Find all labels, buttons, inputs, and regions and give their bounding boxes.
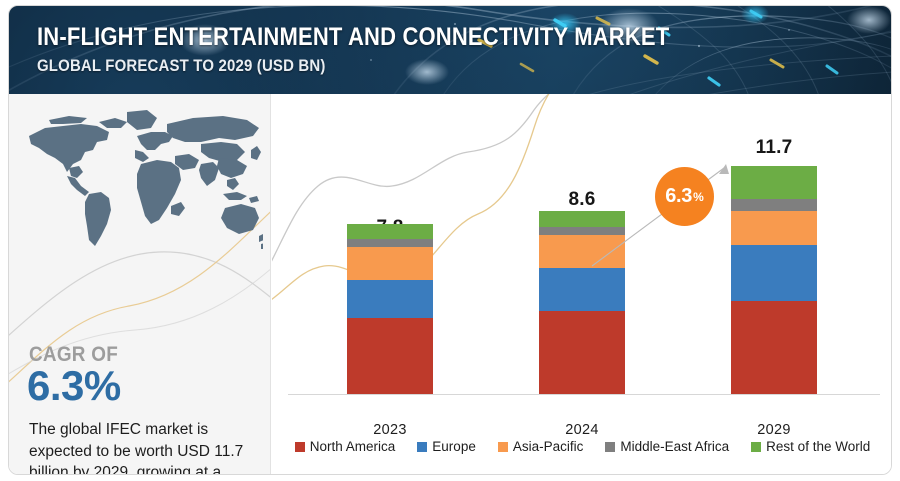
world-map-svg [23, 106, 263, 256]
summary-panel: CAGR OF 6.3% The global IFEC market is e… [9, 94, 271, 475]
body-area: CAGR OF 6.3% The global IFEC market is e… [9, 94, 892, 475]
legend-label-middle-east-africa: Middle-East Africa [620, 439, 729, 454]
page-title: IN-FLIGHT ENTERTAINMENT AND CONNECTIVITY… [37, 22, 669, 52]
legend-item-asia-pacific[interactable]: Asia-Pacific [498, 439, 584, 454]
chart-legend: North America Europe Asia-Pacific Middle… [272, 439, 892, 454]
legend-item-north-america[interactable]: North America [295, 439, 396, 454]
header-text-block: IN-FLIGHT ENTERTAINMENT AND CONNECTIVITY… [37, 22, 756, 76]
cagr-callout-arrow [272, 94, 892, 475]
bar-chart: 7.8 2023 8.6 [272, 94, 892, 475]
market-description: The global IFEC market is expected to be… [29, 419, 261, 475]
legend-label-north-america: North America [310, 439, 396, 454]
legend-item-europe[interactable]: Europe [417, 439, 476, 454]
cagr-badge-unit: % [693, 190, 704, 204]
cagr-value: 6.3% [27, 362, 121, 410]
legend-label-rest-of-world: Rest of the World [766, 439, 870, 454]
legend-swatch-icon-europe [417, 442, 427, 452]
cagr-badge[interactable]: 6.3 % [655, 167, 714, 226]
cagr-badge-value: 6.3 [665, 185, 692, 208]
legend-label-asia-pacific: Asia-Pacific [513, 439, 584, 454]
legend-label-europe: Europe [432, 439, 476, 454]
header-banner: IN-FLIGHT ENTERTAINMENT AND CONNECTIVITY… [9, 6, 892, 94]
legend-item-middle-east-africa[interactable]: Middle-East Africa [605, 439, 729, 454]
legend-item-rest-of-world[interactable]: Rest of the World [751, 439, 870, 454]
page-subtitle: GLOBAL FORECAST TO 2029 (USD BN) [37, 55, 669, 76]
chart-panel: 7.8 2023 8.6 [272, 94, 892, 475]
world-map-icon [23, 106, 263, 256]
legend-swatch-icon-asia-pacific [498, 442, 508, 452]
legend-swatch-icon-north-america [295, 442, 305, 452]
infographic-root: IN-FLIGHT ENTERTAINMENT AND CONNECTIVITY… [0, 0, 900, 481]
infographic-frame: IN-FLIGHT ENTERTAINMENT AND CONNECTIVITY… [8, 5, 892, 475]
legend-swatch-icon-middle-east-africa [605, 442, 615, 452]
legend-swatch-icon-rest-of-world [751, 442, 761, 452]
